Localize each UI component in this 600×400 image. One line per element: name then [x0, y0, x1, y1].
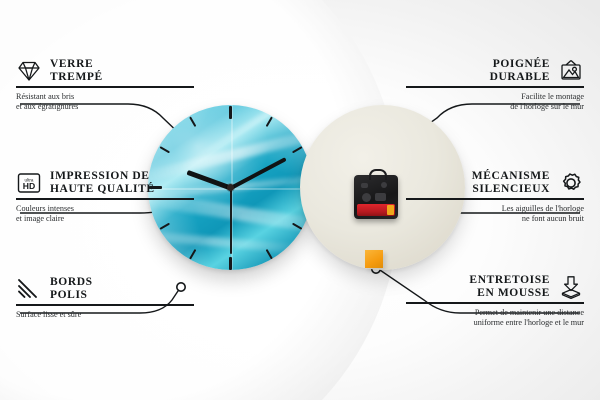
gear-icon: [558, 171, 584, 195]
mechanism-detail: [362, 193, 371, 202]
foam-spacer-part: [365, 250, 383, 268]
product-infographic: VERRE TREMPÉ Résistant aux bris et aux é…: [0, 0, 600, 400]
picture-hanger-icon: [558, 59, 584, 83]
divider: [406, 302, 584, 304]
feature-description: Résistant aux bris et aux égratignures: [16, 92, 194, 112]
feature-bords-polis: BORDS POLIS Surface lisse et sûre: [16, 276, 194, 320]
feature-description: Surface lisse et sûre: [16, 310, 194, 320]
feature-impression-haute-qualite: ultra HD IMPRESSION DE HAUTE QUALITÉ Cou…: [16, 170, 194, 224]
feature-description: Les aiguilles de l'horloge ne font aucun…: [406, 204, 584, 224]
feature-title: MÉCANISME SILENCIEUX: [472, 170, 550, 195]
feature-title: ENTRETOISE EN MOUSSE: [469, 274, 550, 299]
clock-battery: [357, 204, 395, 216]
divider: [16, 304, 194, 306]
clock-mechanism: [354, 175, 398, 219]
feature-title: VERRE TREMPÉ: [50, 58, 103, 83]
foam-spacer-icon: [558, 275, 584, 299]
hanger-hook-icon: [369, 169, 387, 180]
feature-entretoise-en-mousse: ENTRETOISE EN MOUSSE Permet de maintenir…: [406, 274, 584, 328]
feature-verre-trempe: VERRE TREMPÉ Résistant aux bris et aux é…: [16, 58, 194, 112]
feature-title: IMPRESSION DE HAUTE QUALITÉ: [50, 170, 155, 195]
divider: [406, 86, 584, 88]
clock-second-hand: [230, 188, 232, 254]
feature-description: Facilite le montage de l'horloge sur le …: [406, 92, 584, 112]
feature-description: Permet de maintenir une distance uniform…: [406, 308, 584, 328]
feature-title: POIGNÉE DURABLE: [490, 58, 550, 83]
feature-mecanisme-silencieux: MÉCANISME SILENCIEUX Les aiguilles de l'…: [406, 170, 584, 224]
mechanism-detail: [361, 183, 368, 188]
clock-center-pivot: [227, 184, 234, 191]
diamond-icon: [16, 59, 42, 83]
mechanism-detail: [381, 182, 387, 188]
feature-poignee-durable: POIGNÉE DURABLE Facilite le montage de l…: [406, 58, 584, 112]
svg-text:HD: HD: [23, 181, 35, 191]
ultra-hd-icon: ultra HD: [16, 171, 42, 195]
feature-title: BORDS POLIS: [50, 276, 93, 301]
mechanism-detail: [375, 193, 386, 201]
divider: [16, 198, 194, 200]
polished-edges-icon: [16, 277, 42, 301]
divider: [406, 198, 584, 200]
divider: [16, 86, 194, 88]
feature-description: Couleurs intenses et image claire: [16, 204, 194, 224]
clock-tick: [230, 106, 232, 188]
